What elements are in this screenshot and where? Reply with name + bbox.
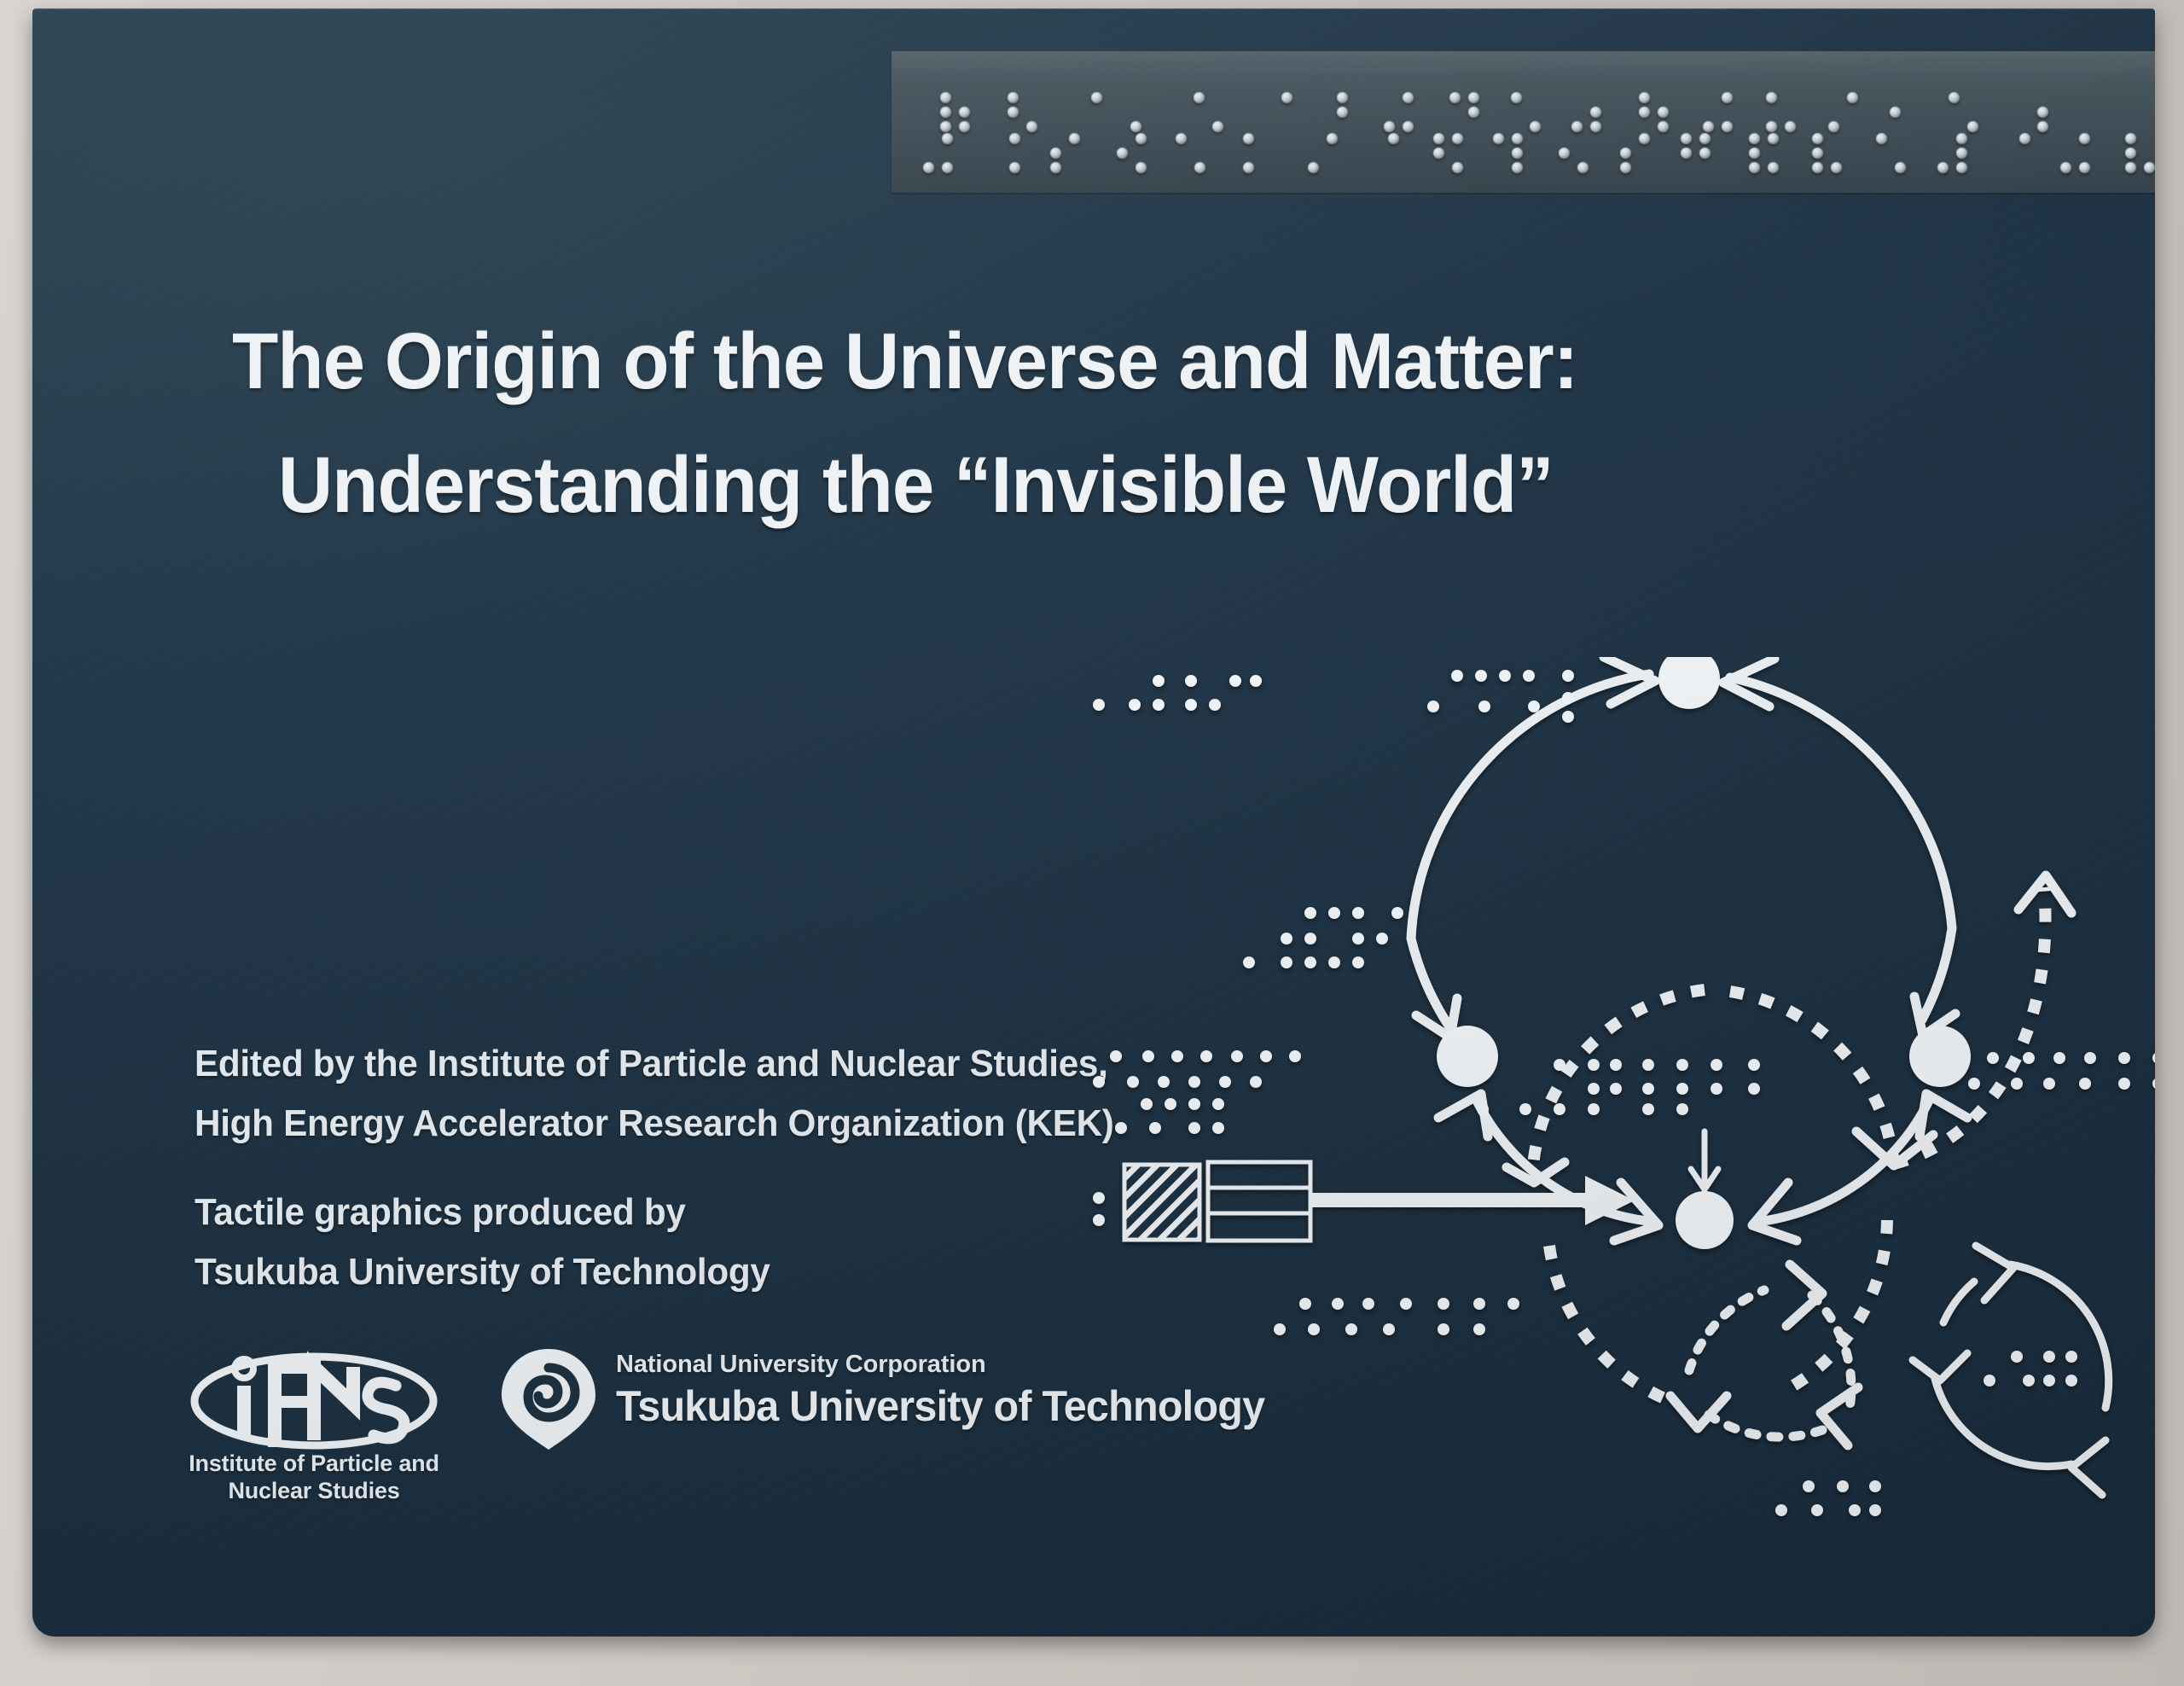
braille-dot <box>1703 121 1714 132</box>
credit-edited-line-1: Edited by the Institute of Particle and … <box>195 1043 1108 1085</box>
braille-dot <box>1956 148 1967 159</box>
braille-dot <box>1768 162 1779 173</box>
braille-dot <box>1452 133 1463 144</box>
braille-dot <box>2037 121 2048 132</box>
braille-dot <box>1403 121 1414 132</box>
braille-dot <box>1008 92 1019 103</box>
braille-caption-lower-dotted <box>1775 1480 1881 1516</box>
braille-dot <box>2144 162 2155 173</box>
braille-dot <box>1699 148 1711 159</box>
braille-dot <box>1130 121 1141 132</box>
braille-dot <box>940 121 951 132</box>
braille-dot <box>1176 133 1187 144</box>
braille-dot <box>1050 162 1061 173</box>
braille-dot <box>1008 107 1019 118</box>
braille-dot <box>923 162 934 173</box>
braille-dot <box>1831 162 1842 173</box>
node-right <box>1909 1026 1971 1087</box>
braille-dot <box>1530 121 1541 132</box>
node-centre <box>1676 1191 1734 1249</box>
braille-dot <box>1337 92 1348 103</box>
braille-dot <box>1511 92 1522 103</box>
braille-dot <box>1749 133 1760 144</box>
credit-tactile-line-2: Tsukuba University of Technology <box>195 1251 770 1294</box>
braille-dot <box>1956 133 1967 144</box>
braille-dot <box>1620 162 1631 173</box>
braille-dot <box>1468 107 1479 118</box>
braille-dot <box>1639 92 1650 103</box>
braille-dot <box>1812 133 1823 144</box>
accelerator-symbol <box>1124 1162 1635 1241</box>
braille-dot <box>959 121 970 132</box>
braille-dot <box>1828 121 1839 132</box>
braille-dot <box>1050 148 1061 159</box>
braille-dot <box>1384 121 1395 132</box>
ipns-caption-line-1: Institute of Particle and <box>186 1451 442 1477</box>
credit-edited-line-2: High Energy Accelerator Research Organiz… <box>195 1102 1114 1145</box>
credit-tactile-line-1: Tactile graphics produced by <box>195 1191 686 1234</box>
braille-dot <box>1766 121 1777 132</box>
braille-dot <box>1847 92 1858 103</box>
braille-dot <box>1766 92 1777 103</box>
braille-dot <box>942 162 953 173</box>
braille-dot <box>1876 133 1887 144</box>
braille-dot <box>1243 162 1254 173</box>
braille-dot <box>1327 133 1338 144</box>
tsukuba-teardrop-icon <box>500 1347 598 1451</box>
braille-dot <box>1009 162 1020 173</box>
braille-dot <box>1026 121 1037 132</box>
braille-dot <box>1749 148 1760 159</box>
braille-dot <box>1699 133 1711 144</box>
tsukuba-logo-subtitle: National University Corporation <box>616 1351 986 1379</box>
braille-caption-upper-left <box>1093 675 1262 711</box>
braille-dot <box>942 133 953 144</box>
braille-dot <box>1136 162 1147 173</box>
braille-dot <box>2079 133 2090 144</box>
braille-caption-accelerator-bottom <box>1274 1298 1519 1335</box>
ipns-logo: Institute of Particle and Nuclear Studie… <box>186 1348 450 1510</box>
braille-dot <box>2019 133 2030 144</box>
braille-title-strip <box>892 51 2155 193</box>
braille-dot <box>1243 133 1254 144</box>
braille-caption-left-node <box>1082 1050 1301 1088</box>
centre-down-arrow <box>1691 1131 1718 1189</box>
braille-caption-accelerator-left <box>1082 1170 1105 1226</box>
braille-dot <box>2037 107 2048 118</box>
braille-dot <box>1403 92 1414 103</box>
braille-dot <box>1639 133 1650 144</box>
tactile-exhibit-panel: The Origin of the Universe and Matter: U… <box>32 9 2155 1637</box>
braille-dot <box>1768 133 1779 144</box>
braille-dot <box>1337 107 1348 118</box>
braille-dot <box>1956 162 1967 173</box>
page-title-line-2: Understanding the “Invisible World” <box>278 439 1554 531</box>
braille-dot <box>1559 148 1570 159</box>
braille-dot <box>940 92 951 103</box>
braille-dot <box>1493 133 1504 144</box>
braille-dot <box>1512 148 1523 159</box>
dotted-arc-arrowheads <box>1507 875 2071 1183</box>
braille-dot <box>1091 92 1102 103</box>
braille-dot <box>1512 133 1523 144</box>
hatched-target-block <box>1124 1165 1199 1240</box>
braille-dot <box>1895 162 1906 173</box>
braille-dot <box>959 107 970 118</box>
braille-dot <box>2079 162 2090 173</box>
braille-caption-top <box>1427 670 1574 723</box>
ipns-caption-line-2: Nuclear Studies <box>186 1478 442 1504</box>
tactile-cosmology-particle-diagram <box>1082 657 2155 1561</box>
braille-dot <box>1937 162 1949 173</box>
detector-stack-block <box>1208 1162 1310 1241</box>
braille-caption-small-cycle <box>1984 1351 2077 1387</box>
braille-dot <box>1590 107 1601 118</box>
braille-dot <box>1681 133 1692 144</box>
braille-dot <box>1639 107 1650 118</box>
outer-cycle-arrowheads <box>1416 657 1955 1038</box>
beam-arrow <box>1310 1176 1635 1225</box>
ipns-mark-icon <box>186 1348 442 1451</box>
braille-dot <box>1194 162 1205 173</box>
braille-dot <box>1449 92 1461 103</box>
braille-caption-centre <box>1477 1059 1760 1115</box>
braille-dot <box>1577 162 1589 173</box>
braille-dot <box>1749 162 1760 173</box>
braille-dot <box>2060 162 2071 173</box>
braille-dot <box>1785 121 1796 132</box>
braille-dot <box>1812 162 1823 173</box>
braille-dot <box>1658 107 1669 118</box>
braille-dot <box>1722 92 1733 103</box>
braille-dot <box>1590 121 1601 132</box>
braille-caption-accelerator-top <box>1115 1098 1224 1134</box>
braille-dot <box>2125 162 2136 173</box>
braille-dot <box>1949 92 1960 103</box>
braille-dot <box>1281 92 1292 103</box>
braille-dot <box>1967 121 1978 132</box>
braille-dot <box>2125 133 2136 144</box>
braille-dot <box>1571 121 1583 132</box>
braille-dot <box>1452 162 1463 173</box>
braille-dot <box>1433 133 1444 144</box>
braille-caption-inner <box>1243 907 1403 968</box>
braille-dot <box>1812 148 1823 159</box>
braille-dot <box>1308 162 1319 173</box>
braille-dot <box>1117 148 1128 159</box>
braille-dot <box>1722 121 1733 132</box>
page-title-line-1: The Origin of the Universe and Matter: <box>232 316 1577 407</box>
braille-dot <box>1212 121 1223 132</box>
node-left <box>1437 1026 1498 1087</box>
braille-dot <box>1681 148 1692 159</box>
braille-dot <box>1388 133 1399 144</box>
braille-dot <box>1890 107 1901 118</box>
braille-dot <box>1658 121 1669 132</box>
braille-dot <box>1433 148 1444 159</box>
braille-dot <box>1069 133 1080 144</box>
braille-dot <box>1468 92 1479 103</box>
braille-dot <box>2125 148 2136 159</box>
braille-dot <box>940 107 951 118</box>
large-outer-cycle <box>1411 674 1952 1026</box>
braille-dot <box>1512 162 1523 173</box>
braille-dot <box>1620 148 1631 159</box>
node-top <box>1658 657 1720 709</box>
lower-right-cycle <box>1935 1264 2109 1467</box>
braille-dot <box>1136 133 1147 144</box>
braille-dot <box>1194 92 1205 103</box>
screenshot-root: The Origin of the Universe and Matter: U… <box>0 0 2184 1686</box>
braille-dot <box>1009 133 1020 144</box>
